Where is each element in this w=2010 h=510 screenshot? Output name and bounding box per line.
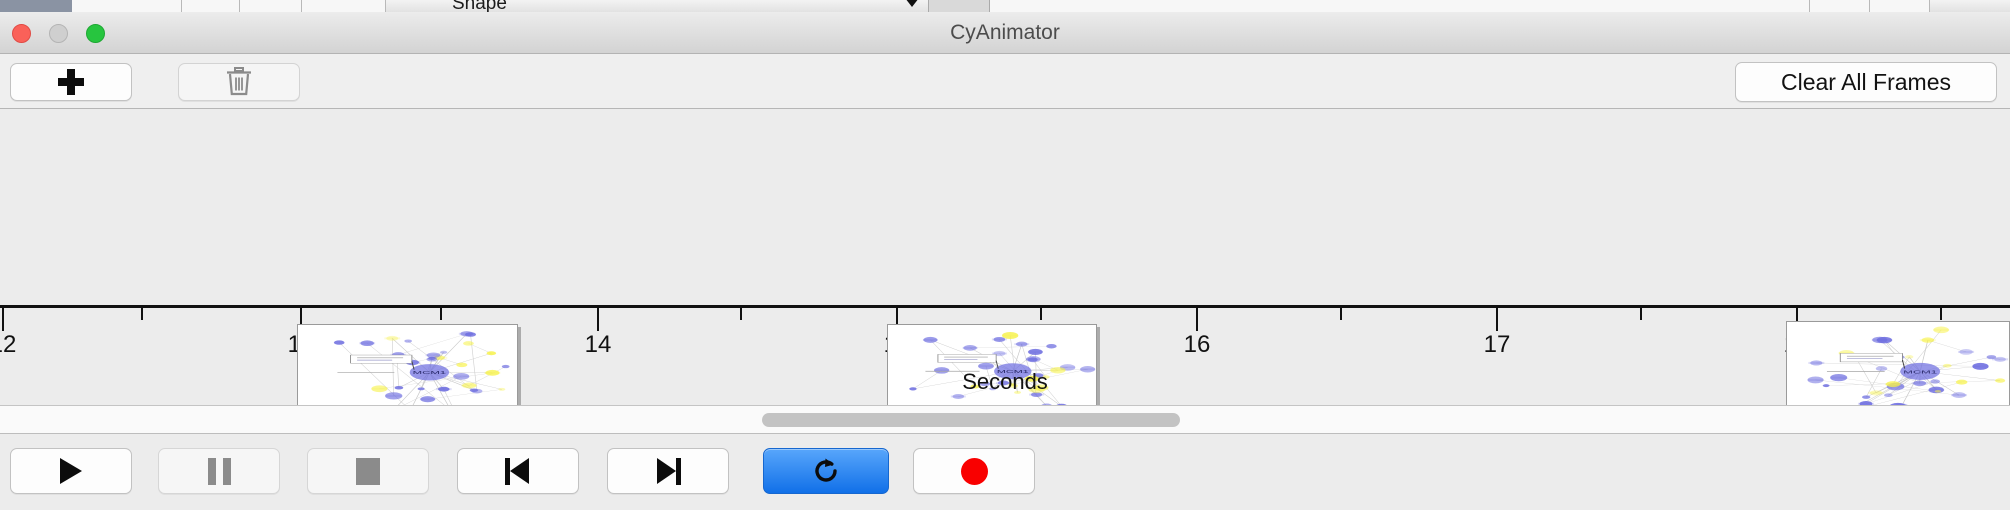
timeline-tick-minor: [1040, 308, 1042, 320]
skip-back-icon: [505, 458, 531, 485]
timeline-tick-minor: [1340, 308, 1342, 320]
timeline-tick-minor: [1940, 308, 1942, 320]
background-window-tab: [1810, 0, 1870, 12]
timeline-panel[interactable]: 12131415161718 MCM1 MCM1: [0, 109, 2010, 406]
frame-toolbar: Clear All Frames: [0, 54, 2010, 109]
stop-button[interactable]: [307, 448, 429, 494]
timeline-axis-title: Seconds: [0, 369, 2010, 395]
stop-icon: [356, 458, 380, 485]
background-window-selected-tab: [0, 0, 72, 12]
timeline-scrollbar-thumb[interactable]: [762, 413, 1180, 427]
record-button[interactable]: [913, 448, 1035, 494]
add-frame-button[interactable]: [10, 63, 132, 101]
skip-back-button[interactable]: [457, 448, 579, 494]
playback-toolbar: Animation Speed:: [0, 434, 2010, 510]
loop-icon: [811, 456, 841, 486]
background-window-tab: [182, 0, 240, 12]
trash-icon: [226, 67, 252, 97]
background-window-tab: [1870, 0, 1930, 12]
timeline-tick-label: 17: [1484, 331, 1511, 359]
background-window-tab: [240, 0, 302, 12]
cyanimator-window: Shape CyAnimator Clea: [0, 0, 2010, 510]
background-window-tab: [72, 0, 182, 12]
pause-button[interactable]: [158, 448, 280, 494]
timeline-tick-label: 14: [585, 331, 612, 359]
timeline-tick-minor: [740, 308, 742, 320]
background-window-strip: Shape: [0, 0, 2010, 12]
timeline-tick-major: [1196, 308, 1198, 331]
plus-icon: [58, 69, 84, 95]
timeline-tick-minor: [440, 308, 442, 320]
pause-icon: [208, 458, 231, 485]
skip-forward-icon: [655, 458, 681, 485]
timeline-tick-label: 12: [0, 331, 16, 359]
background-window-label: Shape: [452, 0, 507, 12]
background-window-caret-icon: [905, 0, 919, 7]
timeline-tick-minor: [1640, 308, 1642, 320]
window-title: CyAnimator: [0, 12, 2010, 54]
timeline-tick-major: [1496, 308, 1498, 331]
record-icon: [961, 458, 988, 485]
background-window-tab: [302, 0, 386, 12]
loop-button[interactable]: [763, 448, 889, 494]
background-window-tab: [990, 0, 1810, 12]
timeline-tick-label: 16: [1184, 331, 1211, 359]
play-icon: [60, 458, 82, 484]
timeline-tick-major: [2, 308, 4, 331]
background-window-box: [928, 0, 990, 12]
skip-fwd-button[interactable]: [607, 448, 729, 494]
timeline-tick-minor: [141, 308, 143, 320]
title-bar: CyAnimator: [0, 12, 2010, 54]
delete-frame-button[interactable]: [178, 63, 300, 101]
timeline-tick-major: [597, 308, 599, 331]
play-button[interactable]: [10, 448, 132, 494]
timeline-scrollbar[interactable]: [0, 406, 2010, 434]
clear-all-frames-button[interactable]: Clear All Frames: [1735, 62, 1997, 102]
